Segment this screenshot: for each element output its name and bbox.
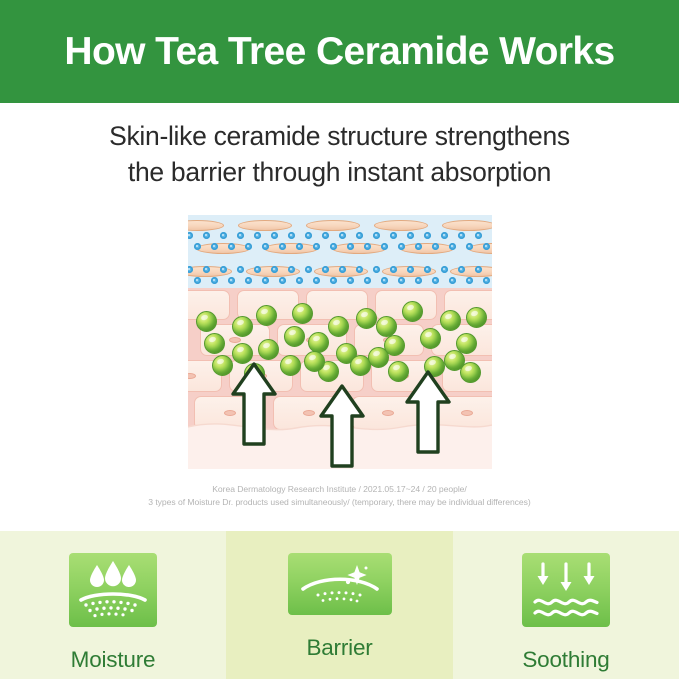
corneocyte-cell	[196, 243, 250, 254]
water-molecule-dot	[381, 277, 388, 284]
water-molecule-dot	[220, 232, 227, 239]
water-molecule-dot	[296, 277, 303, 284]
water-molecule-dot	[466, 243, 473, 250]
ceramide-particle	[232, 316, 253, 337]
water-molecule-dot	[188, 232, 193, 239]
caption-line-1: Korea Dermatology Research Institute / 2…	[0, 483, 679, 496]
water-molecule-dot	[262, 277, 269, 284]
water-molecule-dot	[211, 277, 218, 284]
water-molecule-dot	[305, 266, 312, 273]
water-molecule-dot	[254, 266, 261, 273]
study-caption: Korea Dermatology Research Institute / 2…	[0, 483, 679, 508]
ceramide-particle	[256, 305, 277, 326]
ceramide-particle	[258, 339, 279, 360]
water-molecule-dot	[415, 243, 422, 250]
feature-panels: Moisture Barrier	[0, 531, 679, 679]
water-molecule-dot	[398, 243, 405, 250]
stratum-corneum-layer	[188, 215, 492, 288]
ceramide-particle	[280, 355, 301, 376]
water-molecule-dot	[237, 232, 244, 239]
water-molecule-dot	[458, 232, 465, 239]
water-molecule-dot	[415, 277, 422, 284]
header-banner: How Tea Tree Ceramide Works	[0, 0, 679, 103]
ceramide-particle	[466, 307, 487, 328]
water-molecule-dot	[228, 277, 235, 284]
water-molecule-dot	[313, 243, 320, 250]
water-molecule-dot	[381, 243, 388, 250]
ceramide-particle	[368, 347, 389, 368]
water-molecule-dot	[441, 232, 448, 239]
absorption-arrow-right	[403, 368, 453, 456]
water-molecule-dot	[364, 243, 371, 250]
ceramide-particle	[304, 351, 325, 372]
water-molecule-dot	[245, 243, 252, 250]
water-molecule-dot	[347, 243, 354, 250]
ceramide-particle	[356, 308, 377, 329]
caption-line-2: 3 types of Moisture Dr. products used si…	[0, 496, 679, 509]
water-molecule-dot	[407, 232, 414, 239]
water-molecule-dot	[339, 266, 346, 273]
water-molecule-dot	[373, 232, 380, 239]
water-molecule-dot	[424, 266, 431, 273]
water-molecule-dot	[203, 266, 210, 273]
water-molecule-dot	[203, 232, 210, 239]
water-molecule-dot	[288, 232, 295, 239]
cell-nucleus	[229, 337, 241, 343]
water-molecule-dot	[211, 243, 218, 250]
ceramide-particle	[292, 303, 313, 324]
water-molecule-dot	[288, 266, 295, 273]
water-molecule-dot	[475, 232, 482, 239]
water-molecule-dot	[271, 266, 278, 273]
water-molecule-dot	[245, 277, 252, 284]
ceramide-particle	[420, 328, 441, 349]
ceramide-particle	[402, 301, 423, 322]
water-molecule-dot	[313, 277, 320, 284]
water-molecule-dot	[279, 277, 286, 284]
corneocyte-cell	[442, 220, 492, 231]
water-molecule-dot	[373, 266, 380, 273]
water-droplets-icon	[69, 553, 157, 627]
ceramide-particle	[308, 332, 329, 353]
water-molecule-dot	[449, 277, 456, 284]
water-molecule-dot	[220, 266, 227, 273]
water-molecule-dot	[194, 243, 201, 250]
water-molecule-dot	[398, 277, 405, 284]
water-molecule-dot	[228, 243, 235, 250]
water-molecule-dot	[254, 232, 261, 239]
water-molecule-dot	[458, 266, 465, 273]
water-molecule-dot	[347, 277, 354, 284]
water-molecule-dot	[330, 243, 337, 250]
water-molecule-dot	[449, 243, 456, 250]
water-molecule-dot	[432, 243, 439, 250]
feature-panel-soothing[interactable]: Soothing	[453, 531, 679, 679]
water-molecule-dot	[364, 277, 371, 284]
barrier-arc-sparkle-icon	[288, 553, 392, 615]
absorption-arrow-center	[317, 382, 367, 469]
corneocyte-cell	[188, 220, 224, 231]
water-molecule-dot	[390, 232, 397, 239]
water-molecule-dot	[194, 277, 201, 284]
ceramide-particle	[440, 310, 461, 331]
water-molecule-dot	[483, 243, 490, 250]
water-molecule-dot	[279, 243, 286, 250]
water-molecule-dot	[390, 266, 397, 273]
water-molecule-dot	[262, 243, 269, 250]
water-molecule-dot	[466, 277, 473, 284]
feature-panel-barrier[interactable]: Barrier	[226, 531, 453, 679]
feature-label-moisture: Moisture	[71, 649, 156, 672]
water-molecule-dot	[475, 266, 482, 273]
feature-label-soothing: Soothing	[522, 649, 609, 672]
absorption-arrow-left	[229, 360, 279, 448]
ceramide-particle	[204, 333, 225, 354]
ceramide-particle	[376, 316, 397, 337]
water-molecule-dot	[322, 266, 329, 273]
water-molecule-dot	[483, 277, 490, 284]
ceramide-particle	[284, 326, 305, 347]
water-molecule-dot	[305, 232, 312, 239]
water-molecule-dot	[296, 243, 303, 250]
down-arrows-waves-icon	[522, 553, 610, 627]
ceramide-particle	[196, 311, 217, 332]
skin-cross-section-illustration	[188, 215, 492, 469]
water-molecule-dot	[271, 232, 278, 239]
corneocyte-cell	[238, 220, 292, 231]
corneocyte-cell	[400, 243, 454, 254]
water-molecule-dot	[441, 266, 448, 273]
water-molecule-dot	[237, 266, 244, 273]
feature-panel-moisture[interactable]: Moisture	[0, 531, 226, 679]
subtitle-line-1: Skin-like ceramide structure strengthens	[0, 118, 679, 154]
subtitle-line-2: the barrier through instant absorption	[0, 154, 679, 190]
page-title: How Tea Tree Ceramide Works	[64, 32, 614, 71]
water-molecule-dot	[356, 266, 363, 273]
ceramide-particle	[328, 316, 349, 337]
feature-label-barrier: Barrier	[306, 637, 372, 660]
water-molecule-dot	[322, 232, 329, 239]
corneocyte-cell	[306, 220, 360, 231]
corneocyte-cell	[374, 220, 428, 231]
corneocyte-cell	[264, 243, 318, 254]
water-molecule-dot	[407, 266, 414, 273]
water-molecule-dot	[356, 232, 363, 239]
corneocyte-cell	[450, 266, 492, 277]
corneocyte-cell	[332, 243, 386, 254]
water-molecule-dot	[339, 232, 346, 239]
water-molecule-dot	[330, 277, 337, 284]
water-molecule-dot	[424, 232, 431, 239]
subtitle-block: Skin-like ceramide structure strengthens…	[0, 118, 679, 190]
water-molecule-dot	[432, 277, 439, 284]
